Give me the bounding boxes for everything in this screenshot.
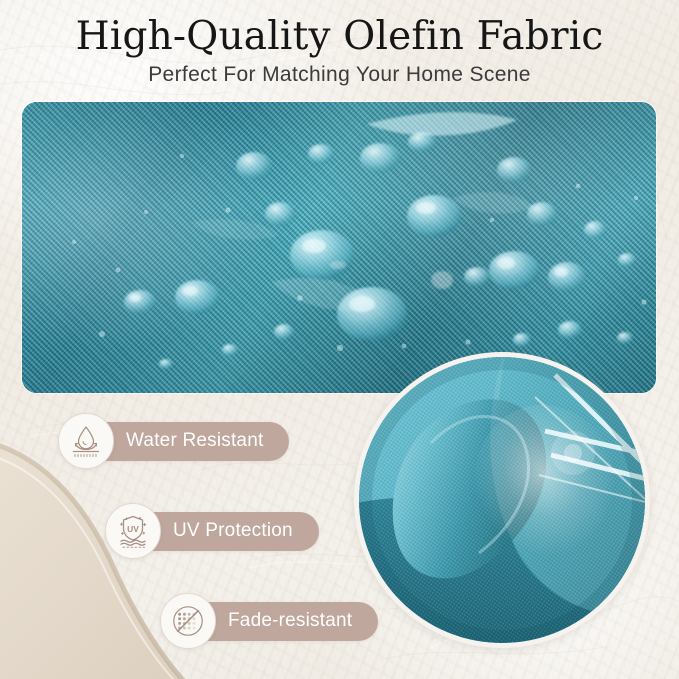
feature-label-fade-resistant: Fade-resistant	[228, 610, 352, 632]
fade-dots-slash-icon	[160, 593, 216, 649]
water-droplets-group	[22, 102, 656, 393]
uv-shield-icon: UV	[105, 503, 161, 559]
feature-badge-water-resistant[interactable]: Water Resistant	[58, 418, 289, 464]
product-feature-poster: High-Quality Olefin Fabric Perfect For M…	[0, 0, 679, 679]
fabric-detail-circle-inset	[354, 352, 650, 648]
feature-badge-uv-protection[interactable]: UV UV Protection	[105, 508, 319, 554]
svg-text:UV: UV	[127, 524, 139, 534]
feature-label-water-resistant: Water Resistant	[126, 430, 263, 452]
main-fabric-photo	[22, 102, 656, 393]
feature-badge-fade-resistant[interactable]: Fade-resistant	[160, 598, 378, 644]
page-subtitle: Perfect For Matching Your Home Scene	[0, 63, 679, 87]
page-title: High-Quality Olefin Fabric	[0, 17, 679, 58]
water-drop-repel-icon	[58, 413, 114, 469]
feature-label-uv-protection: UV Protection	[173, 520, 293, 542]
folded-fabric-illustration	[359, 357, 645, 643]
